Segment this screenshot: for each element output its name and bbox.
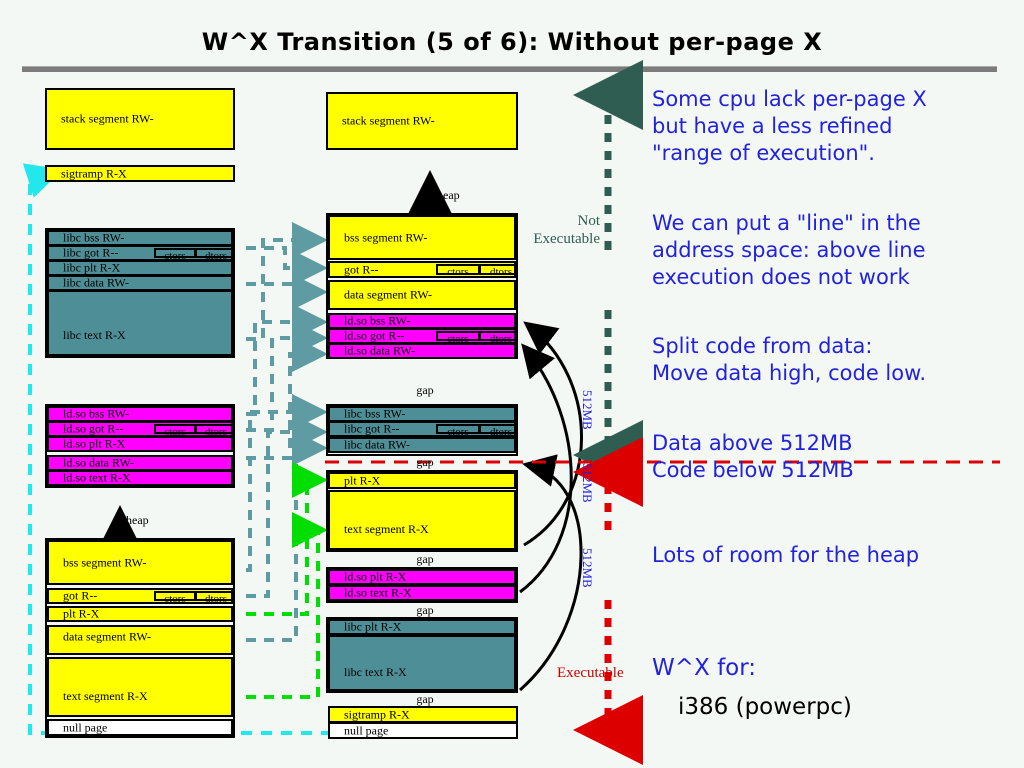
- block-label: text segment R-X: [63, 690, 148, 703]
- block-label: data segment RW-: [344, 289, 432, 302]
- dtors-box: dtors: [195, 591, 233, 601]
- gap-label-1: gap: [395, 383, 455, 398]
- mid-block-data: data segment RW-: [328, 280, 516, 310]
- boundary-label-512mb-2: 512MB: [579, 463, 595, 503]
- swap-arrow-group: [520, 325, 582, 690]
- executable-label: Executable: [557, 665, 624, 682]
- left-heap-label: heap: [126, 513, 149, 528]
- mid-block-ldso-got: ld.so got R-- ctors dtors: [328, 328, 516, 344]
- mid-block-ldso-plt: ld.so plt R-X: [328, 569, 516, 585]
- block-label: libc got R--: [344, 423, 399, 436]
- left-block-ldso-got: ld.so got R-- ctors dtors: [47, 421, 233, 437]
- note-paragraph-4: Data above 512MB Code below 512MB: [652, 430, 1012, 484]
- block-label: ld.so data RW-: [63, 457, 134, 470]
- block-label: got R--: [63, 590, 97, 603]
- ctors-box: ctors: [436, 331, 480, 341]
- gap-label-2: gap: [395, 455, 455, 470]
- left-block-text: text segment R-X: [47, 657, 233, 717]
- ctors-box: ctors: [436, 424, 480, 434]
- block-label: data segment RW-: [63, 631, 151, 644]
- mid-block-stack: stack segment RW-: [326, 92, 518, 150]
- gap-label-4: gap: [395, 603, 455, 618]
- gap-label-5: gap: [395, 692, 455, 707]
- block-label: ld.so plt R-X: [63, 438, 125, 451]
- dtors-box: dtors: [479, 424, 516, 434]
- block-label: null page: [63, 721, 107, 734]
- dtors-box: dtors: [479, 331, 516, 341]
- mid-block-libc-data: libc data RW-: [328, 437, 516, 453]
- block-label: libc bss RW-: [63, 232, 124, 245]
- green-connector-group: [246, 480, 320, 697]
- mid-block-ldso-text: ld.so text R-X: [328, 585, 516, 601]
- mid-block-ldso-bss: ld.so bss RW-: [328, 313, 516, 329]
- block-label: ld.so text R-X: [344, 587, 412, 600]
- wx-arch-label: i386 (powerpc): [678, 694, 852, 720]
- mid-block-got: got R-- ctors dtors: [328, 261, 516, 278]
- mid-block-plt: plt R-X: [328, 472, 516, 489]
- not-executable-label: Not Executable: [530, 212, 600, 248]
- block-label: sigtramp R-X: [61, 167, 127, 180]
- block-label: libc data RW-: [344, 439, 410, 452]
- boundary-label-512mb-1: 512MB: [579, 390, 595, 430]
- mid-block-libc-bss: libc bss RW-: [328, 406, 516, 422]
- dtors-box: dtors: [479, 264, 516, 275]
- block-label: got R--: [344, 263, 378, 276]
- mid-block-sigtramp: sigtramp R-X: [328, 706, 518, 723]
- block-label: libc data RW-: [63, 277, 129, 290]
- gap-label-3: gap: [395, 552, 455, 567]
- block-label: ld.so text R-X: [63, 472, 131, 485]
- block-label: ld.so bss RW-: [63, 408, 129, 421]
- block-label: stack segment RW-: [342, 115, 435, 128]
- block-label: ld.so got R--: [63, 423, 123, 436]
- note-paragraph-3: Split code from data: Move data high, co…: [652, 333, 1012, 387]
- left-block-libc-data: libc data RW-: [47, 275, 233, 291]
- left-block-plt: plt R-X: [47, 606, 233, 622]
- left-block-nullpage: null page: [47, 719, 233, 736]
- block-label: sigtramp R-X: [344, 708, 410, 721]
- mid-block-libc-got: libc got R-- ctors dtors: [328, 421, 516, 437]
- ctors-box: ctors: [154, 424, 196, 434]
- left-block-got: got R-- ctors dtors: [47, 588, 233, 604]
- mid-block-text: text segment R-X: [328, 490, 516, 550]
- left-block-bss: bss segment RW-: [47, 540, 233, 585]
- left-block-sigtramp: sigtramp R-X: [45, 165, 235, 182]
- teal-connector-group: [246, 240, 320, 640]
- block-label: ld.so bss RW-: [344, 315, 410, 328]
- left-block-libc-got: libc got R-- ctors dtors: [47, 245, 233, 261]
- left-block-data: data segment RW-: [47, 625, 233, 655]
- mid-heap-label: heap: [437, 188, 460, 203]
- slide-root: W^X Transition (5 of 6): Without per-pag…: [0, 0, 1024, 768]
- dtors-box: dtors: [195, 248, 233, 258]
- block-label: libc plt R-X: [344, 621, 401, 634]
- ctors-box: ctors: [154, 591, 196, 601]
- note-paragraph-1: Some cpu lack per-page X but have a less…: [652, 86, 1012, 167]
- block-label: libc plt R-X: [63, 262, 120, 275]
- block-label: libc text R-X: [344, 666, 407, 679]
- ctors-box: ctors: [154, 248, 196, 258]
- block-label: plt R-X: [344, 474, 380, 487]
- left-block-ldso-data: ld.so data RW-: [47, 455, 233, 471]
- left-block-ldso-text: ld.so text R-X: [47, 470, 233, 486]
- block-label: bss segment RW-: [344, 231, 427, 244]
- block-label: null page: [344, 724, 388, 737]
- ctors-box: ctors: [436, 264, 480, 275]
- title-divider: [22, 66, 997, 72]
- block-label: libc bss RW-: [344, 408, 405, 421]
- block-label: text segment R-X: [344, 523, 429, 536]
- page-title: W^X Transition (5 of 6): Without per-pag…: [0, 28, 1024, 56]
- mid-block-libc-text: libc text R-X: [328, 635, 516, 691]
- left-block-libc-plt: libc plt R-X: [47, 260, 233, 276]
- mid-block-bss: bss segment RW-: [328, 215, 516, 260]
- block-label: bss segment RW-: [63, 556, 146, 569]
- dtors-box: dtors: [195, 424, 233, 434]
- block-label: ld.so data RW-: [344, 345, 415, 358]
- mid-block-nullpage: null page: [328, 722, 518, 739]
- left-block-stack: stack segment RW-: [45, 88, 235, 150]
- left-block-libc-text: libc text R-X: [47, 290, 233, 356]
- mid-block-libc-plt: libc plt R-X: [328, 619, 516, 635]
- block-label: libc text R-X: [63, 329, 126, 342]
- left-block-ldso-plt: ld.so plt R-X: [47, 436, 233, 452]
- note-paragraph-5: Lots of room for the heap: [652, 542, 1022, 569]
- block-label: ld.so plt R-X: [344, 571, 406, 584]
- mid-block-ldso-data: ld.so data RW-: [328, 343, 516, 359]
- left-block-ldso-bss: ld.so bss RW-: [47, 406, 233, 422]
- note-paragraph-2: We can put a "line" in the address space…: [652, 210, 1012, 291]
- block-label: plt R-X: [63, 608, 99, 621]
- boundary-label-512mb-3: 512MB: [579, 548, 595, 588]
- block-label: ld.so got R--: [344, 330, 404, 343]
- block-label: libc got R--: [63, 247, 118, 260]
- block-label: stack segment RW-: [61, 113, 154, 126]
- left-block-libc-bss: libc bss RW-: [47, 230, 233, 246]
- wx-for-label: W^X for:: [652, 655, 756, 681]
